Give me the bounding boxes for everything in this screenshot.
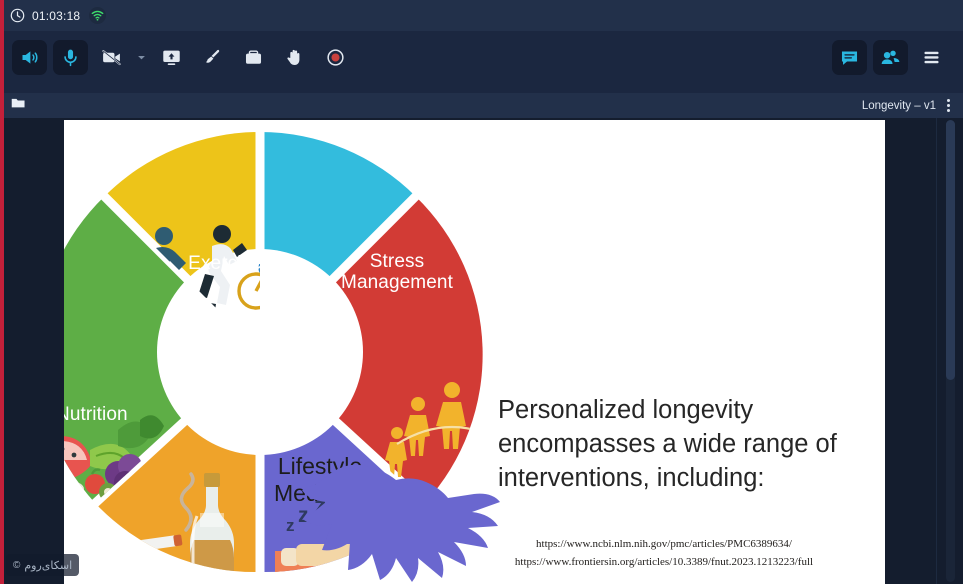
slide-body-text: Personalized longevity encompasses a wid… <box>498 394 858 496</box>
session-timer: 01:03:18 <box>32 9 80 23</box>
hand-icon <box>284 47 305 68</box>
participants-button[interactable] <box>873 40 908 75</box>
copyright-icon: © <box>13 560 20 571</box>
toolbar-left-group <box>12 40 353 75</box>
skyroom-meeting-window: 01:03:18 <box>0 0 963 584</box>
meeting-toolbar <box>0 31 963 93</box>
watermark-label: اسکای‌روم <box>24 559 72 572</box>
speaker-icon <box>19 47 40 68</box>
slide-references: https://www.ncbi.nlm.nih.gov/pmc/article… <box>464 536 864 571</box>
record-icon <box>325 47 346 68</box>
chevron-down-icon <box>137 49 146 67</box>
camera-off-icon <box>101 47 122 68</box>
document-bar: Longevity – v1 <box>0 93 963 118</box>
microphone-button[interactable] <box>53 40 88 75</box>
vertical-scrollbar[interactable] <box>946 120 955 582</box>
toolbar-right-group <box>832 40 949 75</box>
files-button[interactable] <box>236 40 271 75</box>
reference-link-2: https://www.frontiersin.org/articles/10.… <box>464 554 864 572</box>
wheel-svg: z z z <box>64 120 520 584</box>
presentation-stage: z z z Exercise <box>0 118 963 584</box>
briefcase-icon <box>243 47 264 68</box>
slide-canvas[interactable]: z z z Exercise <box>64 120 885 584</box>
lifestyle-medicine-wheel: z z z Exercise <box>64 120 520 584</box>
scrollbar-thumb[interactable] <box>946 120 955 380</box>
left-accent-stripe <box>0 0 4 584</box>
document-title: Longevity – v1 <box>862 100 936 112</box>
document-file-icon-wrap[interactable] <box>10 95 26 116</box>
svg-text:z: z <box>286 516 295 535</box>
raise-hand-button[interactable] <box>277 40 312 75</box>
camera-options[interactable] <box>135 40 148 75</box>
microphone-icon <box>60 47 81 68</box>
hamburger-icon <box>921 47 942 68</box>
status-bar: 01:03:18 <box>0 0 963 31</box>
record-button[interactable] <box>318 40 353 75</box>
wheel-center-label: Lifestyle Medicine <box>225 453 415 507</box>
camera-button[interactable] <box>94 40 129 75</box>
kebab-menu-icon[interactable] <box>944 97 953 114</box>
speaker-button[interactable] <box>12 40 47 75</box>
brush-icon <box>202 47 223 68</box>
skyroom-watermark: © اسکای‌روم <box>6 554 79 576</box>
reference-link-1: https://www.ncbi.nlm.nih.gov/pmc/article… <box>464 536 864 554</box>
participants-icon <box>880 47 901 68</box>
wifi-signal-icon <box>89 7 106 24</box>
screen-share-icon <box>161 47 182 68</box>
svg-text:z: z <box>298 504 309 527</box>
screen-share-button[interactable] <box>154 40 189 75</box>
folder-icon <box>10 95 26 116</box>
document-bar-right: Longevity – v1 <box>862 97 953 114</box>
menu-button[interactable] <box>914 40 949 75</box>
clock-icon <box>10 8 25 23</box>
panel-divider <box>936 118 937 584</box>
whiteboard-button[interactable] <box>195 40 230 75</box>
chat-button[interactable] <box>832 40 867 75</box>
chat-icon <box>839 47 860 68</box>
wheel-center-hole <box>157 249 363 455</box>
